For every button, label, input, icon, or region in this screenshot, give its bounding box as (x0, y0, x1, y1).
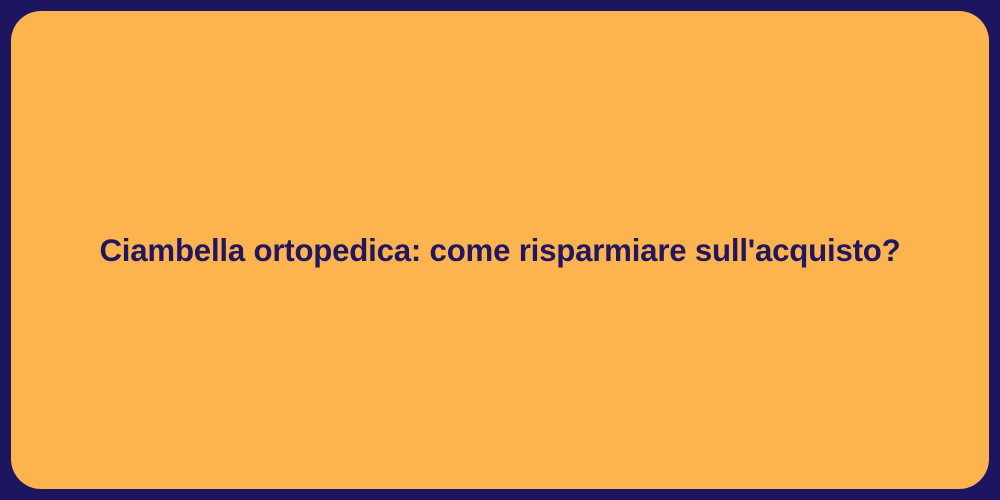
card-panel: Ciambella ortopedica: come risparmiare s… (11, 11, 989, 489)
card-frame: Ciambella ortopedica: come risparmiare s… (0, 0, 1000, 500)
page-title: Ciambella ortopedica: come risparmiare s… (39, 231, 960, 270)
